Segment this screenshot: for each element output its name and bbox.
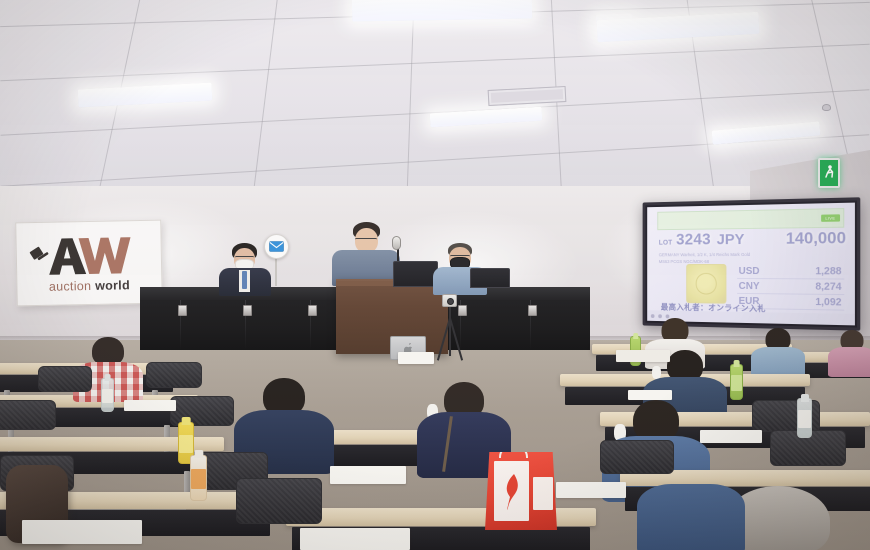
drape-clip [243, 305, 252, 316]
bottle-cap [633, 333, 639, 339]
drape-clip [178, 305, 187, 316]
chair [236, 478, 322, 524]
screen-live-button: LIVE [821, 214, 839, 222]
projection-screen-content: LIVE LOT 3243 JPY 140,000 GERMANY Warhei… [647, 203, 855, 326]
bottle-cap [733, 360, 740, 367]
screen-lot-label: LOT [659, 240, 673, 247]
screen-lot-row: LOT 3243 JPY 140,000 [659, 230, 846, 250]
water-bottle [797, 398, 812, 438]
bottle-label [731, 375, 742, 391]
torso [637, 484, 745, 550]
papers-on-desk [300, 528, 410, 550]
bottle-label [798, 410, 811, 427]
running-person-icon [824, 164, 835, 182]
microphone [392, 236, 401, 250]
drape-clip [458, 305, 467, 316]
banner-subtitle-suffix: world [95, 278, 130, 293]
shopping-bag-panel [494, 461, 529, 520]
banner-subtitle: auction world [49, 278, 130, 294]
torso [751, 347, 805, 377]
stage-person-auctioneer [330, 222, 402, 284]
auction-catalog [616, 350, 670, 362]
rate-row: CNY 8,274 [737, 279, 844, 295]
bottle-cap [182, 417, 191, 425]
chair [600, 440, 674, 474]
bottle-cap [194, 450, 203, 458]
glasses [355, 238, 377, 241]
audience-person-light-blue [750, 328, 806, 374]
chair [146, 362, 202, 388]
tripod-leg [449, 316, 451, 356]
aw-logo [28, 232, 149, 278]
papers-on-desk [124, 400, 176, 411]
coin-outline [695, 273, 716, 294]
bottle-label [102, 389, 113, 404]
clerk-laptop [470, 268, 510, 288]
envelope-icon [269, 241, 284, 252]
rate-code: CNY [739, 280, 760, 291]
bottle-cap [800, 394, 808, 402]
water-bottle [101, 378, 114, 412]
ceiling-light-1 [352, 0, 532, 22]
sprinkler-head [822, 104, 831, 111]
bird-logo-icon [501, 472, 523, 510]
rate-value: 1,092 [815, 296, 841, 308]
audience-person-pink [828, 330, 870, 374]
audience-person-denim-foreground [636, 466, 746, 550]
screen-lot-thumbnail [686, 264, 726, 304]
rate-value: 8,274 [815, 281, 841, 293]
chair [0, 400, 56, 430]
video-camera [442, 294, 457, 307]
bottle-label [191, 469, 206, 489]
papers-on-desk [628, 390, 672, 400]
papers-on-desk [330, 466, 406, 484]
orange-juice-bottle [190, 455, 207, 501]
banner-subtitle-prefix: auction [49, 278, 92, 293]
green-tea-bottle [730, 364, 743, 400]
bottle-label [179, 435, 193, 453]
necktie [242, 271, 247, 289]
shopping-bag [485, 452, 557, 530]
screen-header-bar: LIVE [657, 208, 844, 230]
papers-on-desk [22, 520, 142, 544]
rate-value: 1,288 [815, 266, 841, 277]
chair [38, 366, 92, 392]
screen-price: 140,000 [786, 230, 846, 249]
drape-clip [528, 305, 537, 316]
camera-lens [447, 298, 454, 305]
ceiling [0, 0, 870, 196]
rate-code: USD [739, 265, 760, 276]
bid-paddle [264, 234, 289, 259]
tripod-column [449, 306, 451, 320]
aw-logo-svg [28, 232, 149, 278]
drape-clip [308, 305, 317, 316]
gavel-icon [29, 246, 49, 260]
torso [828, 347, 870, 377]
screen-lot-number: 3243 [676, 231, 711, 249]
shopping-bag-label [533, 477, 552, 510]
exit-sign [818, 158, 840, 188]
rate-row: USD 1,288 [737, 264, 844, 280]
screen-currency: JPY [717, 231, 745, 248]
auction-hall-photo: auction world LIVE LOT 3243 JPY 140,000 … [0, 0, 870, 550]
bid-paddle-handle [275, 258, 277, 286]
papers-stack [398, 352, 434, 364]
bottle-cap [104, 374, 111, 381]
papers-on-desk [700, 430, 762, 443]
projection-screen: LIVE LOT 3243 JPY 140,000 GERMANY Warhei… [643, 197, 861, 330]
papers-on-desk [556, 482, 626, 498]
